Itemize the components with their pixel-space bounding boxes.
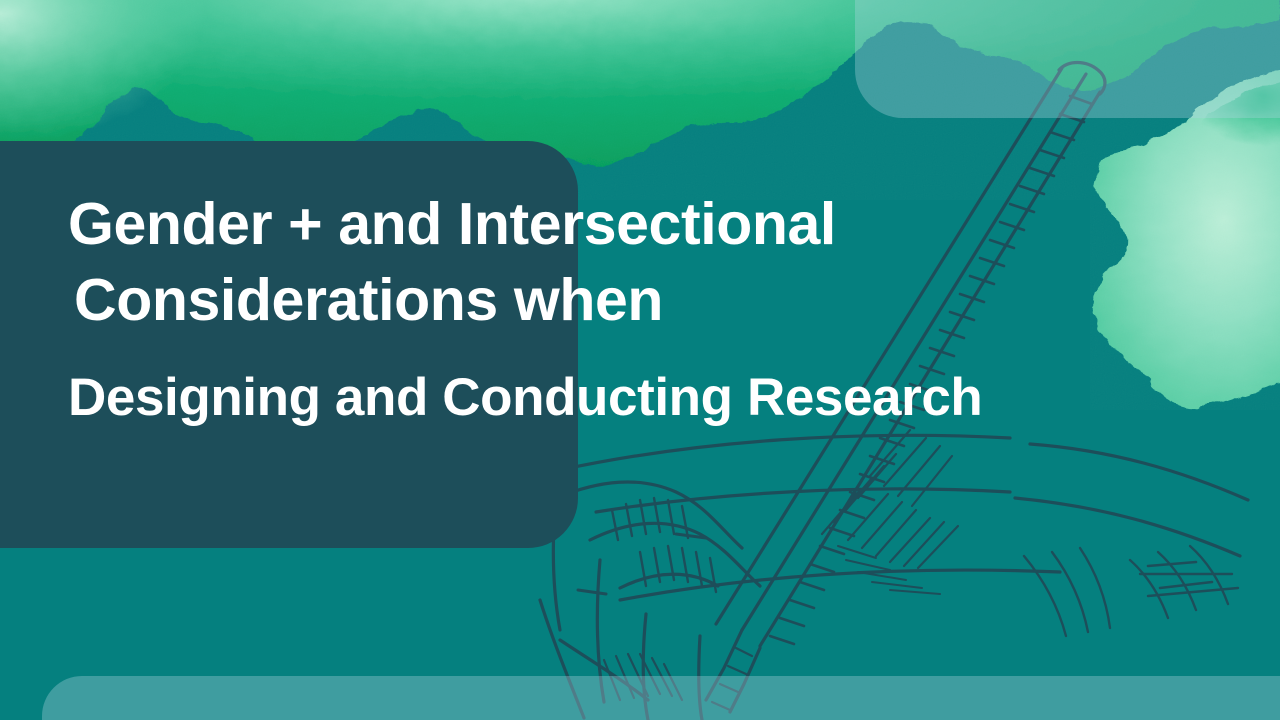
bottom-left-overlay-panel [42, 676, 1280, 720]
top-right-overlay-panel [855, 0, 1280, 118]
title-line-2: Considerations when [74, 262, 1228, 338]
title-line-3: Designing and Conducting Research [68, 360, 1228, 436]
title-slide: Gender + and Intersectional Consideratio… [0, 0, 1280, 720]
slide-title: Gender + and Intersectional Consideratio… [68, 186, 1228, 436]
title-line-1: Gender + and Intersectional [68, 186, 1228, 262]
